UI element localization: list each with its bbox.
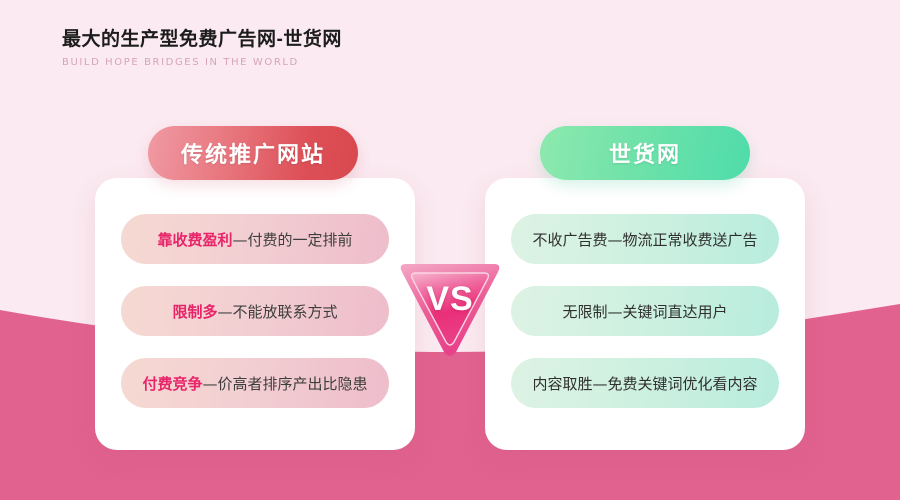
comparison-card-traditional: 靠收费盈利 —付费的一定排前 限制多 —不能放联系方式 付费竞争 —价高者排序产… <box>95 178 415 450</box>
list-item[interactable]: 靠收费盈利 —付费的一定排前 <box>121 214 389 264</box>
versus-triangle-icon <box>396 258 504 362</box>
list-item-key: 限制多 <box>172 301 217 322</box>
list-item[interactable]: 无限制 —关键词直达用户 <box>511 286 779 336</box>
column-header-shihuo-label: 世货网 <box>609 137 681 169</box>
list-item[interactable]: 付费竞争 —价高者排序产出比隐患 <box>121 358 389 408</box>
list-item[interactable]: 不收广告费 —物流正常收费送广告 <box>511 214 779 264</box>
column-header-traditional-label: 传统推广网站 <box>181 137 325 169</box>
comparison-card-shihuo: 不收广告费 —物流正常收费送广告 无限制 —关键词直达用户 内容取胜 —免费关键… <box>485 178 805 450</box>
list-item-detail: —付费的一定排前 <box>233 229 353 250</box>
list-item-key: 付费竞争 <box>142 373 202 394</box>
list-item[interactable]: 内容取胜 —免费关键词优化看内容 <box>511 358 779 408</box>
versus-badge: VS <box>396 258 504 362</box>
list-item-detail: —不能放联系方式 <box>218 301 338 322</box>
page-subtitle: BUILD HOPE BRIDGES IN THE WORLD <box>62 57 342 68</box>
page-title: 最大的生产型免费广告网-世货网 <box>62 28 342 52</box>
list-item-key: 靠收费盈利 <box>157 229 232 250</box>
poster-canvas: 最大的生产型免费广告网-世货网 BUILD HOPE BRIDGES IN TH… <box>0 0 900 500</box>
column-header-traditional[interactable]: 传统推广网站 <box>148 126 358 180</box>
list-item-key: 无限制 <box>562 301 607 322</box>
list-item[interactable]: 限制多 —不能放联系方式 <box>121 286 389 336</box>
list-item-detail: —物流正常收费送广告 <box>608 229 758 250</box>
column-header-shihuo[interactable]: 世货网 <box>540 126 750 180</box>
list-item-key: 不收广告费 <box>532 229 607 250</box>
list-item-detail: —关键词直达用户 <box>608 301 728 322</box>
list-item-key: 内容取胜 <box>532 373 592 394</box>
list-item-detail: —免费关键词优化看内容 <box>593 373 758 394</box>
page-header: 最大的生产型免费广告网-世货网 BUILD HOPE BRIDGES IN TH… <box>62 28 342 68</box>
list-item-detail: —价高者排序产出比隐患 <box>203 373 368 394</box>
